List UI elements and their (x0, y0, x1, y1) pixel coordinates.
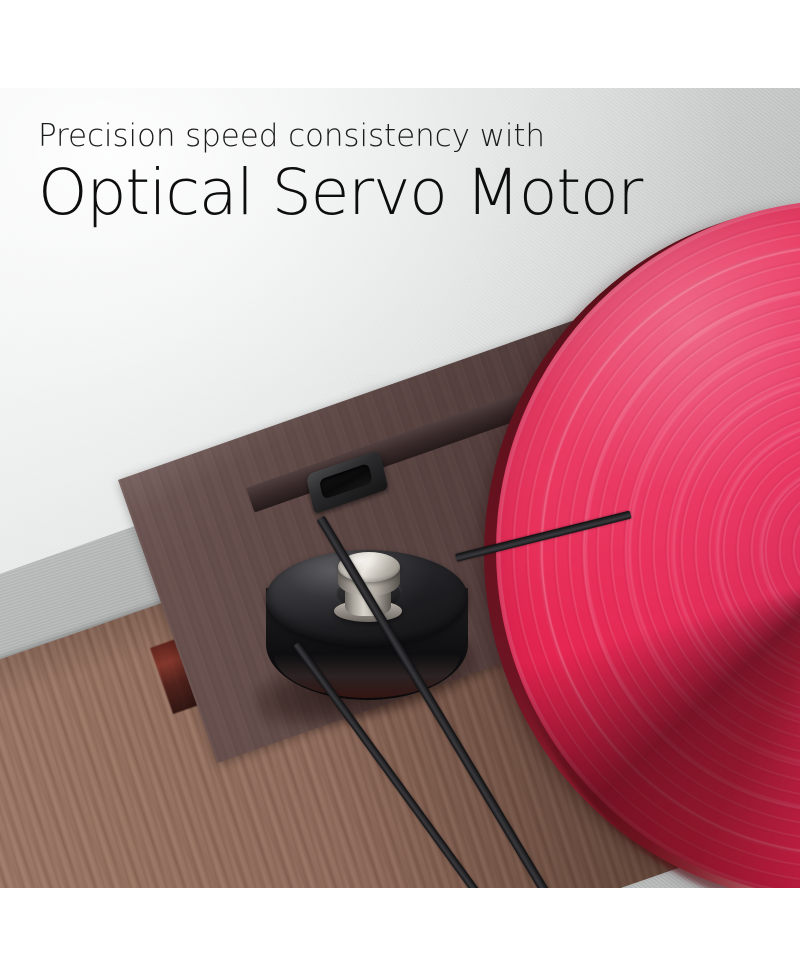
platter-underside-shadow (502, 228, 800, 888)
page-root: Precision speed consistency with Optical… (0, 0, 800, 977)
top-white-margin (0, 0, 800, 88)
product-photo: Precision speed consistency with Optical… (0, 88, 800, 888)
bottom-white-margin (0, 888, 800, 977)
hinge-slot (319, 463, 373, 500)
vinyl-platter (496, 200, 800, 888)
